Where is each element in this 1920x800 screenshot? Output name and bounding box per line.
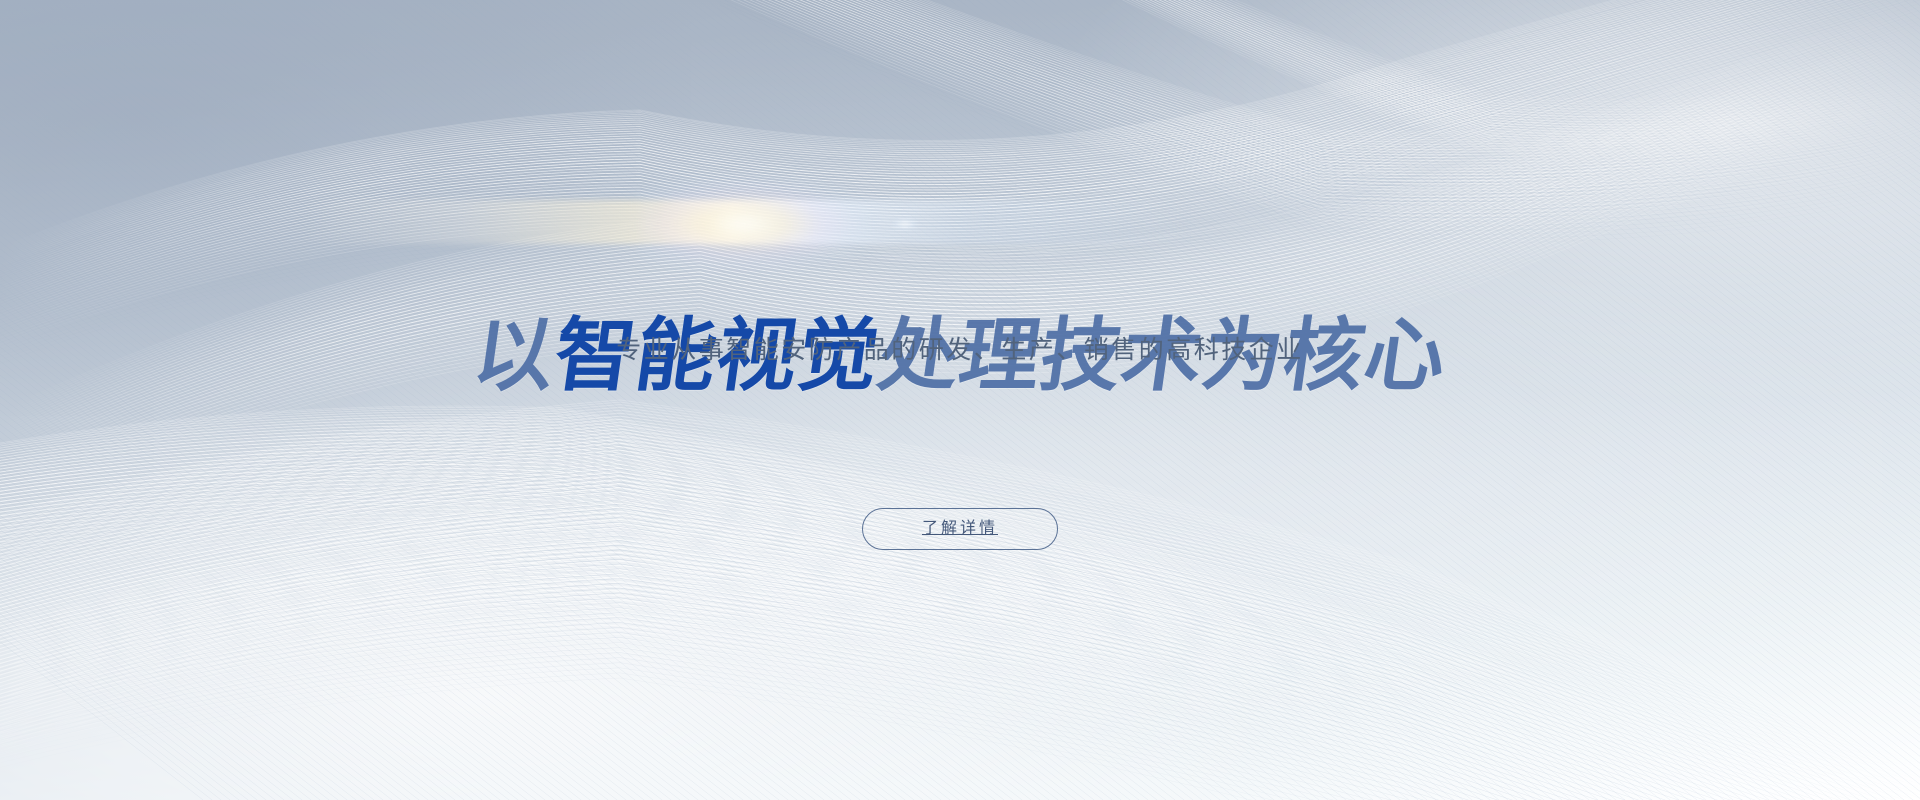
hero-banner: 以智能视觉处理技术为核心 专业从事智能安防产品的研发、生产、销售的高科技企业 了… [0,0,1920,800]
cta-container: 了解详情 [0,508,1920,550]
hero-content: 以智能视觉处理技术为核心 专业从事智能安防产品的研发、生产、销售的高科技企业 了… [0,0,1920,800]
learn-more-button[interactable]: 了解详情 [862,508,1058,550]
page-subtitle: 专业从事智能安防产品的研发、生产、销售的高科技企业 [0,330,1920,366]
